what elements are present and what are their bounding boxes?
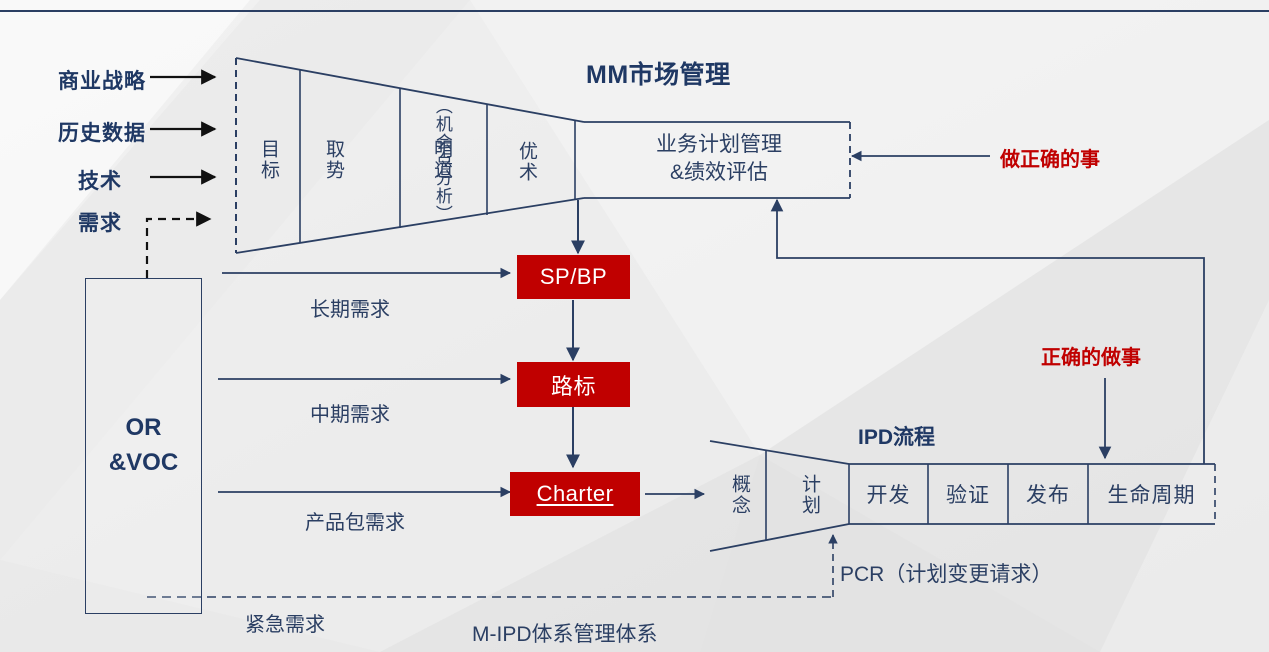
mm-segment-1: 取势 [318,128,348,192]
ipd-phase-2[interactable]: 发布 [1008,464,1088,524]
demand-label-emergency: 紧急需求 [245,608,325,637]
red-box-spbp[interactable]: SP/BP [517,255,630,299]
demand-label-long-term: 长期需求 [310,293,390,322]
red-box-spbp-label: SP/BP [540,264,607,290]
demand-label-product-package: 产品包需求 [305,506,405,535]
ipd-phase-1[interactable]: 验证 [928,464,1008,524]
red-box-roadmap-label: 路标 [551,369,596,401]
demand-label-mid-term: 中期需求 [310,398,390,427]
or-voc-label: OR &VOC [109,411,178,481]
ipd-funnel-segment-0: 概念 [725,464,753,526]
or-voc-box: OR &VOC [85,278,202,614]
input-label-3: 需求 [78,207,122,237]
annotation-do-right-things: 做正确的事 [1000,143,1100,172]
page-title-mm: MM市场管理 [586,55,731,91]
input-label-1: 历史数据 [58,117,146,147]
input-label-0: 商业战略 [58,65,146,95]
feedback-loop-line [777,200,1204,464]
red-box-roadmap[interactable]: 路标 [517,362,630,407]
input-label-2: 技术 [78,165,122,195]
footer-label: M-IPD体系管理体系 [472,618,658,648]
pcr-annotation: PCR（计划变更请求） [840,558,1052,588]
slide-top-rule [0,10,1269,12]
business-plan-box-label: 业务计划管理 &绩效评估 [600,131,838,186]
mm-segment-0: 目标 [253,128,283,192]
section-title-ipd: IPD流程 [858,421,935,451]
input-arrows [147,77,215,278]
red-box-charter[interactable]: Charter [510,472,640,516]
annotation-do-things-right: 正确的做事 [1041,341,1141,370]
ipd-phase-0[interactable]: 开发 [849,464,928,524]
ipd-phase-3[interactable]: 生命周期 [1088,464,1215,524]
mm-segment-4: 优术 [511,130,541,194]
slide-canvas: 商业战略 历史数据 技术 需求 MM市场管理 目标 取势 （机会点分析） 明道 … [0,0,1269,652]
ipd-funnel-segment-1: 计划 [795,464,823,526]
mm-segment-3: 明道 [426,128,456,192]
red-box-charter-label: Charter [537,481,614,507]
